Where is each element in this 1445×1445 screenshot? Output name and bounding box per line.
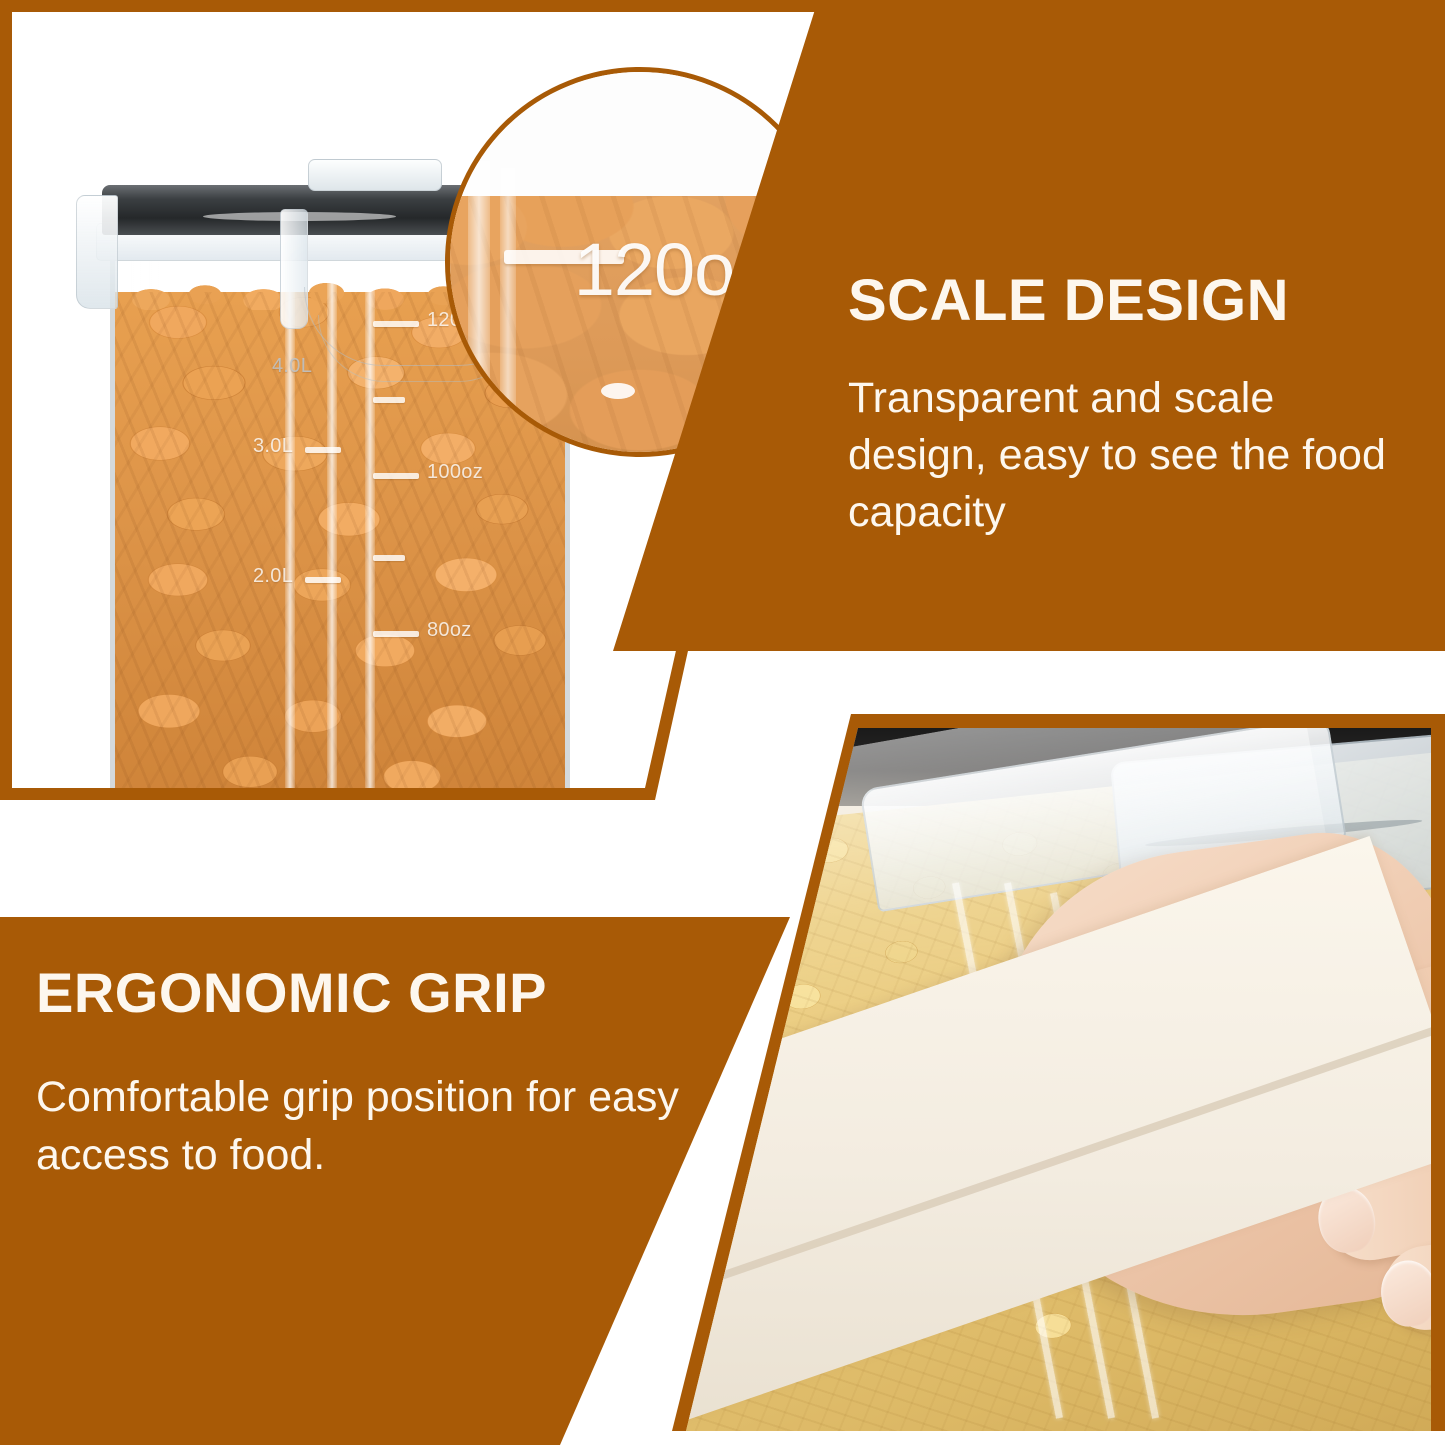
scale-tick-icon bbox=[373, 631, 419, 637]
lid-clip-middle-icon bbox=[280, 209, 308, 329]
product-feature-infographic: 3.0L 2.0L 120oz 100oz 80oz 4.0L bbox=[0, 0, 1445, 1445]
scale-tick-icon bbox=[373, 555, 405, 561]
scale-label-liters-4: 4.0L bbox=[272, 355, 312, 378]
scale-tick-icon bbox=[373, 473, 419, 479]
scale-label-oz-80: 80oz bbox=[427, 619, 472, 642]
ergonomic-grip-body: Comfortable grip position for easy acces… bbox=[36, 1069, 696, 1184]
magnified-rib-icon bbox=[500, 168, 516, 457]
scale-design-text-block: SCALE DESIGN Transparent and scale desig… bbox=[848, 272, 1408, 540]
scale-design-body: Transparent and scale design, easy to se… bbox=[848, 370, 1408, 540]
scale-label-liters-2: 2.0L bbox=[253, 565, 293, 588]
scale-label-liters-3: 3.0L bbox=[253, 435, 293, 458]
scale-tick-icon bbox=[305, 577, 341, 583]
scale-tick-icon bbox=[305, 447, 341, 453]
ergonomic-grip-heading: ERGONOMIC GRIP bbox=[36, 965, 696, 1021]
bottom-right-photo-frame bbox=[672, 714, 1445, 1431]
hand-gripping-container-photo bbox=[686, 728, 1431, 1431]
ergonomic-grip-text-block: ERGONOMIC GRIP Comfortable grip position… bbox=[36, 965, 696, 1184]
scale-label-oz-100: 100oz bbox=[427, 461, 483, 484]
lid-pull-tab bbox=[308, 159, 442, 191]
scale-design-heading: SCALE DESIGN bbox=[848, 272, 1408, 330]
lid-clip-left-icon bbox=[76, 195, 118, 309]
magnified-bubble bbox=[601, 383, 635, 399]
scale-tick-icon bbox=[373, 397, 405, 403]
magnified-rib-icon bbox=[468, 161, 490, 457]
